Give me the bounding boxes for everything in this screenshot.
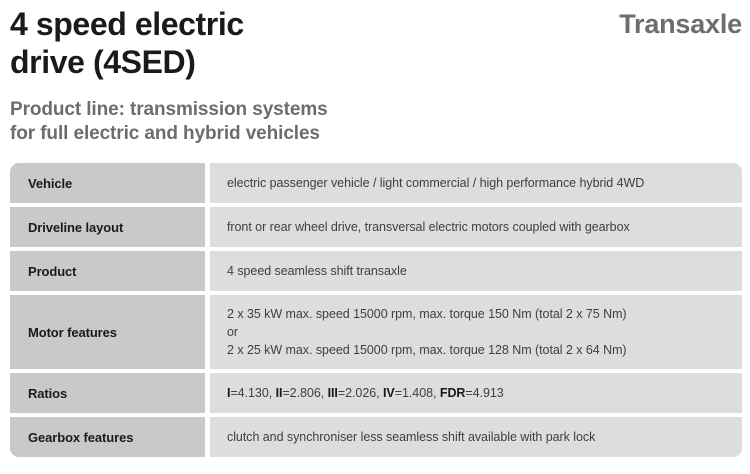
row-value: I=4.130, II=2.806, III=2.026, IV=1.408, … xyxy=(210,373,742,413)
table-row: Motor features2 x 35 kW max. speed 15000… xyxy=(10,295,742,369)
row-value-line: clutch and synchroniser less seamless sh… xyxy=(227,428,728,446)
gear-ratio-value: =2.806, xyxy=(282,386,327,400)
page-title-line-2: drive (4SED) xyxy=(10,43,530,81)
gear-ratio-value: =4.913 xyxy=(465,386,503,400)
gear-ratio-key: FDR xyxy=(440,386,466,400)
page-title-line-1: 4 speed electric xyxy=(10,5,530,43)
row-value-line: front or rear wheel drive, transversal e… xyxy=(227,218,728,236)
row-value-line: I=4.130, II=2.806, III=2.026, IV=1.408, … xyxy=(227,384,728,402)
datasheet-page: 4 speed electric drive (4SED) Transaxle … xyxy=(0,0,750,474)
row-value-line: 2 x 25 kW max. speed 15000 rpm, max. tor… xyxy=(227,341,728,359)
gear-ratio-key: III xyxy=(328,386,338,400)
product-line-subtitle: Product line: transmission systems for f… xyxy=(10,98,328,146)
page-header: 4 speed electric drive (4SED) Transaxle … xyxy=(0,0,750,160)
table-row: Product4 speed seamless shift transaxle xyxy=(10,251,742,291)
table-row: Gearbox featuresclutch and synchroniser … xyxy=(10,417,742,457)
page-title: 4 speed electric drive (4SED) xyxy=(10,5,530,81)
row-label: Ratios xyxy=(10,373,205,413)
specifications-table: Vehicleelectric passenger vehicle / ligh… xyxy=(10,163,742,461)
product-family-label: Transaxle xyxy=(619,8,742,40)
table-row: Vehicleelectric passenger vehicle / ligh… xyxy=(10,163,742,203)
product-line-subtitle-line-2: for full electric and hybrid vehicles xyxy=(10,122,328,146)
row-value: 4 speed seamless shift transaxle xyxy=(210,251,742,291)
row-value: electric passenger vehicle / light comme… xyxy=(210,163,742,203)
gear-ratio-value: =4.130, xyxy=(230,386,275,400)
row-value-line: or xyxy=(227,323,728,341)
row-label: Product xyxy=(10,251,205,291)
row-value-line: 4 speed seamless shift transaxle xyxy=(227,262,728,280)
row-value-line: 2 x 35 kW max. speed 15000 rpm, max. tor… xyxy=(227,305,728,323)
row-label: Motor features xyxy=(10,295,205,369)
row-label: Gearbox features xyxy=(10,417,205,457)
table-row: Driveline layoutfront or rear wheel driv… xyxy=(10,207,742,247)
product-line-subtitle-line-1: Product line: transmission systems xyxy=(10,98,328,122)
gear-ratio-value: =2.026, xyxy=(338,386,383,400)
row-label: Driveline layout xyxy=(10,207,205,247)
row-value: front or rear wheel drive, transversal e… xyxy=(210,207,742,247)
table-row: RatiosI=4.130, II=2.806, III=2.026, IV=1… xyxy=(10,373,742,413)
row-label: Vehicle xyxy=(10,163,205,203)
gear-ratio-key: IV xyxy=(383,386,395,400)
row-value: clutch and synchroniser less seamless sh… xyxy=(210,417,742,457)
row-value-line: electric passenger vehicle / light comme… xyxy=(227,174,728,192)
gear-ratio-value: =1.408, xyxy=(395,386,440,400)
row-value: 2 x 35 kW max. speed 15000 rpm, max. tor… xyxy=(210,295,742,369)
